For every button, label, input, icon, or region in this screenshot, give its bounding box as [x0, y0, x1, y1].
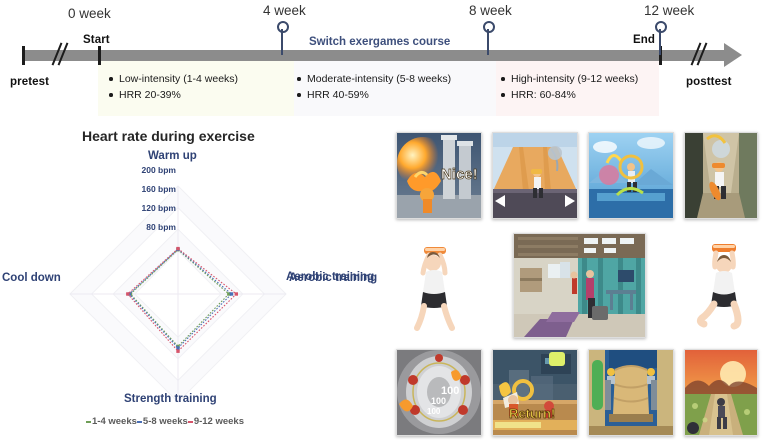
- course-label: Switch exergames course: [309, 36, 450, 48]
- pin-head-4week-icon: [277, 21, 289, 33]
- radar-legend: 1-4 weeks 5-8 weeks 9-12 weeks: [86, 416, 244, 427]
- bullet-low-2: HRR 20-39%: [108, 87, 238, 103]
- bullet-high-2: HRR: 60-84%: [500, 87, 638, 103]
- radar-tick-80: 80 bpm: [124, 222, 176, 232]
- tick-start: [98, 46, 101, 65]
- posttest-label: posttest: [686, 76, 732, 88]
- thumb-class-session: [514, 234, 645, 337]
- thumb-alley-run: [685, 133, 757, 218]
- legend-label-9-12: 9-12 weeks: [194, 416, 244, 427]
- radar-tick-160: 160 bpm: [124, 184, 176, 194]
- art-side-stretch: [402, 242, 466, 332]
- thumb-barrel-press: [589, 350, 673, 435]
- art-sky-ring: [589, 133, 673, 218]
- timeline-axis-bar: [22, 50, 726, 61]
- radar-tick-200: 200 bpm: [124, 165, 176, 175]
- art-lunge-overhead: [692, 240, 756, 332]
- thumb-return-stage: Return!: [493, 350, 577, 435]
- week-label-4: 4 week: [263, 3, 306, 18]
- gallery-item-exergame-sunset-jog[interactable]: [684, 349, 758, 436]
- gallery-item-photo-class-session[interactable]: [513, 233, 646, 338]
- end-label: End: [633, 34, 655, 46]
- art-ring-core: 100 100 100: [397, 350, 481, 435]
- gallery-item-exergame-return-stage[interactable]: Return!: [492, 349, 578, 436]
- gallery-item-exergame-boxing-nice[interactable]: Nice!: [396, 132, 482, 219]
- phase-bullets-moderate: Moderate-intensity (5-8 weeks) HRR 40-59…: [296, 71, 451, 103]
- timeline-arrow-icon: [724, 43, 742, 67]
- week-label-8: 8 week: [469, 3, 512, 18]
- gallery-item-exergame-running-lane[interactable]: [492, 132, 578, 219]
- gallery-item-exergame-sky-ring[interactable]: [588, 132, 674, 219]
- gallery-item-exergame-alley-run[interactable]: [684, 132, 758, 219]
- thumb-boxing-nice: Nice!: [397, 133, 481, 218]
- pin-stick-8week: [487, 29, 489, 55]
- bullet-mod-2: HRR 40-59%: [296, 87, 451, 103]
- phase-bullets-low: Low-intensity (1-4 weeks) HRR 20-39%: [108, 71, 238, 103]
- svg-text:100: 100: [427, 407, 441, 416]
- radar-axis-strength: Strength training: [124, 393, 217, 405]
- timeline-section: 0 week 4 week 8 week 12 week Start End p…: [0, 0, 763, 120]
- phase-bullets-high: High-intensity (9-12 weeks) HRR: 60-84%: [500, 71, 638, 103]
- pin-stick-4week: [281, 29, 283, 55]
- art-return-stage: Return!: [493, 350, 577, 435]
- legend-item-1-4[interactable]: 1-4 weeks: [86, 416, 137, 427]
- pin-head-12week-icon: [655, 21, 667, 33]
- gallery-item-illustration-lunge-overhead: [692, 240, 756, 332]
- legend-swatch-1-4-icon: [86, 421, 91, 423]
- start-label: Start: [83, 34, 110, 46]
- gallery-item-exergame-ring-core[interactable]: 100 100 100: [396, 349, 482, 436]
- legend-item-5-8[interactable]: 5-8 weeks: [137, 416, 188, 427]
- radar-tick-120: 120 bpm: [124, 203, 176, 213]
- legend-swatch-5-8-icon: [137, 421, 142, 423]
- legend-item-9-12[interactable]: 9-12 weeks: [188, 416, 244, 427]
- gallery-item-illustration-side-stretch: [402, 242, 466, 332]
- thumb-sunset-jog: [685, 350, 757, 435]
- row-label-aerobic: Aerobic training: [286, 271, 374, 283]
- art-boxing-nice: Nice!: [397, 133, 481, 218]
- bullet-mod-1: Moderate-intensity (5-8 weeks): [296, 71, 451, 87]
- svg-text:Return!: Return!: [509, 406, 555, 421]
- week-label-0: 0 week: [68, 6, 111, 21]
- radar-chart-svg: [0, 136, 390, 436]
- pretest-label: pretest: [10, 76, 49, 88]
- art-sunset-jog: [685, 350, 757, 435]
- pin-stick-12week: [659, 29, 661, 55]
- legend-label-1-4: 1-4 weeks: [92, 416, 137, 427]
- art-alley-run: [685, 133, 757, 218]
- legend-swatch-9-12-icon: [188, 421, 193, 423]
- week-label-12: 12 week: [644, 3, 694, 18]
- svg-text:100: 100: [431, 396, 446, 406]
- pin-head-8week-icon: [483, 21, 495, 33]
- thumb-sky-ring: [589, 133, 673, 218]
- radar-axis-warmup: Warm up: [148, 150, 197, 162]
- art-running-lane: [493, 133, 577, 218]
- thumb-ring-core: 100 100 100: [397, 350, 481, 435]
- legend-label-5-8: 5-8 weeks: [143, 416, 188, 427]
- svg-text:Nice!: Nice!: [441, 166, 478, 183]
- bullet-high-1: High-intensity (9-12 weeks): [500, 71, 638, 87]
- radar-axis-cooldown: Cool down: [2, 272, 61, 284]
- gallery-item-exergame-barrel-press[interactable]: [588, 349, 674, 436]
- tick-pretest-start: [22, 46, 25, 65]
- art-class-session: [514, 234, 645, 337]
- bullet-low-1: Low-intensity (1-4 weeks): [108, 71, 238, 87]
- thumb-running-lane: [493, 133, 577, 218]
- art-barrel-press: [589, 350, 673, 435]
